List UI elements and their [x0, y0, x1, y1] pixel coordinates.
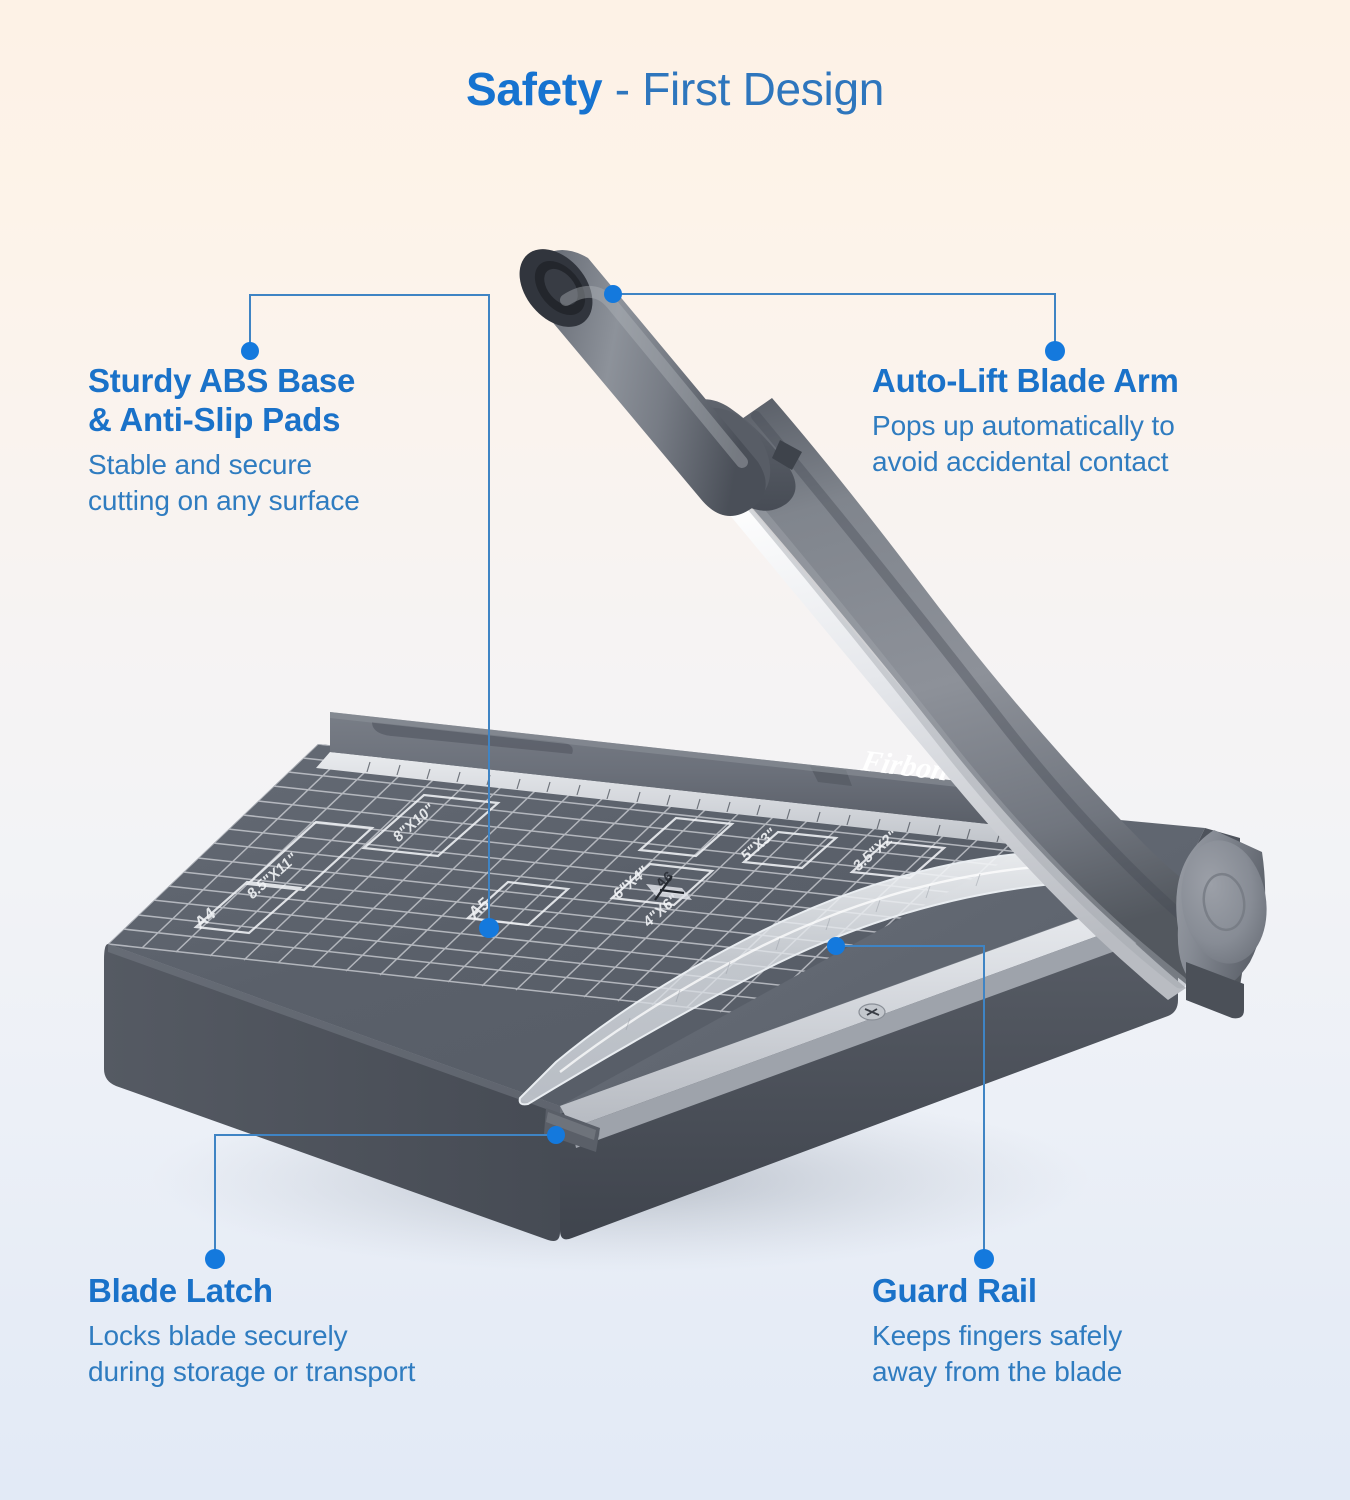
callout-guard-rail: Guard Rail Keeps fingers safely away fro… — [872, 1272, 1292, 1390]
callout-body: Keeps fingers safely away from the blade — [872, 1318, 1292, 1390]
callout-body: Pops up automatically to avoid accidenta… — [872, 408, 1302, 480]
callout-heading: Blade Latch — [88, 1272, 588, 1311]
callout-heading: Auto-Lift Blade Arm — [872, 362, 1302, 401]
callout-sturdy-abs-base: Sturdy ABS Base & Anti-Slip Pads Stable … — [88, 362, 518, 519]
callout-heading: Sturdy ABS Base & Anti-Slip Pads — [88, 362, 518, 440]
callout-body: Stable and secure cutting on any surface — [88, 447, 518, 519]
pivot-hinge — [1173, 830, 1275, 1018]
callout-blade-latch: Blade Latch Locks blade securely during … — [88, 1272, 588, 1390]
callout-heading: Guard Rail — [872, 1272, 1292, 1311]
callout-auto-lift-blade-arm: Auto-Lift Blade Arm Pops up automaticall… — [872, 362, 1302, 480]
handle-grip — [505, 235, 802, 518]
callout-body: Locks blade securely during storage or t… — [88, 1318, 588, 1390]
